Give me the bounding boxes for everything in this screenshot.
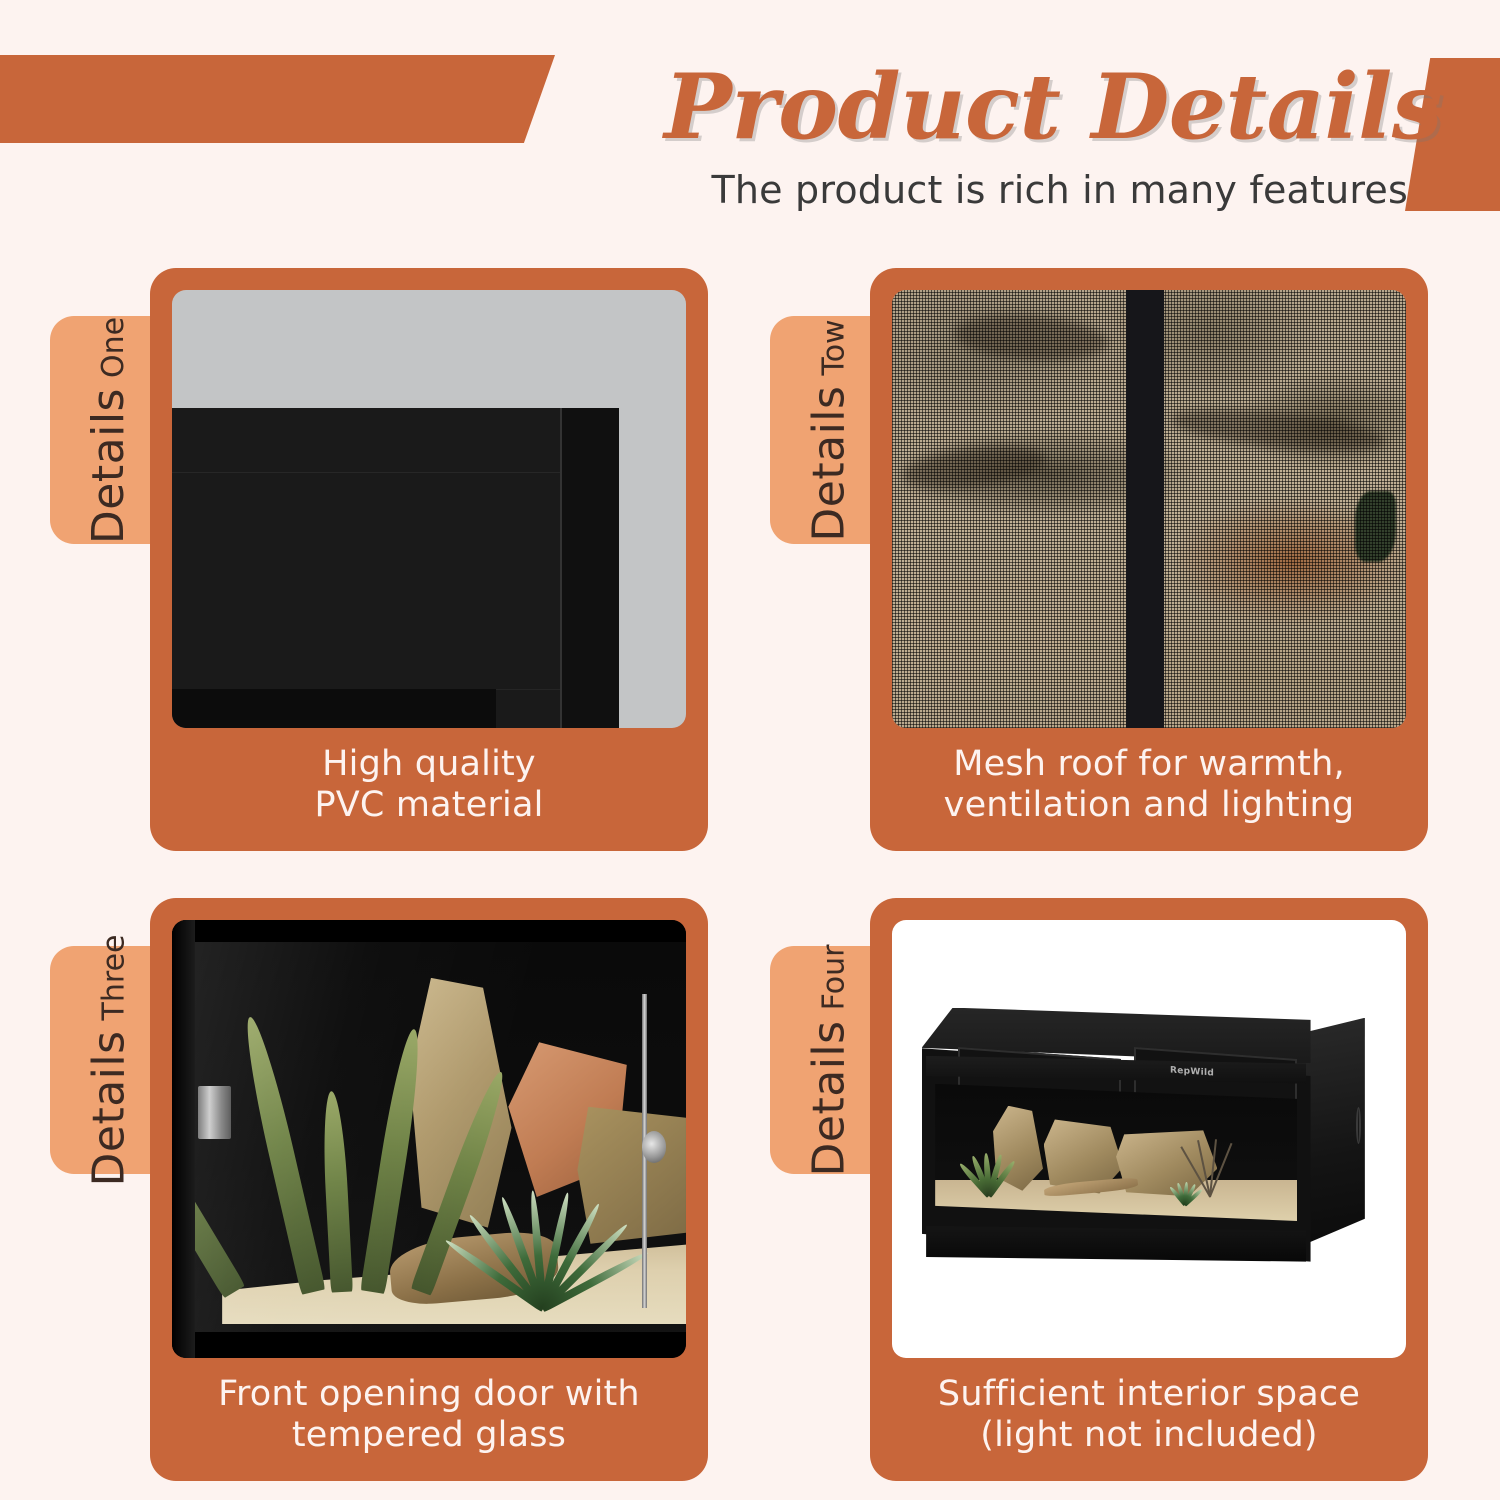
- terrarium-base-plinth: [926, 1226, 1306, 1262]
- details-grid: Details One High quality PVC material De…: [0, 250, 1500, 1500]
- door-frame-bottom: [172, 1332, 686, 1358]
- door-frame-top: [172, 920, 686, 942]
- caption-line-1: Sufficient interior space: [896, 1374, 1402, 1415]
- badge-number: Four: [817, 944, 852, 1010]
- detail-caption-two: Mesh roof for warmth, ventilation and li…: [892, 728, 1406, 851]
- caption-line-1: Front opening door with: [176, 1374, 682, 1415]
- pvc-panel-base: [172, 689, 496, 728]
- terrarium-interior: [193, 938, 686, 1341]
- detail-caption-three: Front opening door with tempered glass: [172, 1358, 686, 1481]
- caption-line-2: tempered glass: [176, 1415, 682, 1456]
- pvc-panel-face: [172, 408, 560, 728]
- door-handle: [198, 1086, 231, 1139]
- mesh-roof-image: [892, 290, 1406, 728]
- page-subtitle: The product is rich in many features: [0, 168, 1408, 212]
- caption-line-2: PVC material: [176, 785, 682, 826]
- detail-card-two: Mesh roof for warmth, ventilation and li…: [870, 268, 1428, 851]
- page-header: Product Details The product is rich in m…: [0, 0, 1500, 235]
- haworthia-succulent: [498, 1179, 587, 1308]
- badge-number: Three: [97, 934, 132, 1020]
- side-vent-icon: [1356, 1107, 1361, 1144]
- badge-number: One: [97, 316, 132, 377]
- badge-label: Details: [804, 1020, 855, 1176]
- caption-line-2: ventilation and lighting: [896, 785, 1402, 826]
- badge-label: Details: [804, 385, 855, 541]
- badge-number: Tow: [817, 319, 852, 375]
- front-door-image: [172, 920, 686, 1358]
- badge-label: Details: [84, 388, 135, 544]
- page-title: Product Details: [0, 62, 1442, 152]
- detail-card-one: High quality PVC material: [150, 268, 708, 851]
- caption-line-2: (light not included): [896, 1415, 1402, 1456]
- agave-plant: [964, 1150, 1011, 1197]
- detail-card-three: Front opening door with tempered glass: [150, 898, 708, 1481]
- badge-label: Details: [84, 1030, 135, 1186]
- door-frame-left: [172, 920, 195, 1358]
- pvc-material-image: [172, 290, 686, 728]
- detail-card-four: RepWild: [870, 898, 1428, 1481]
- pvc-panel-edge: [560, 408, 619, 728]
- full-terrarium-image: RepWild: [892, 920, 1406, 1358]
- mesh-center-divider-bar: [1126, 290, 1165, 728]
- rock-back: [577, 1107, 686, 1244]
- detail-caption-one: High quality PVC material: [172, 728, 686, 851]
- terrarium-product: RepWild: [913, 1008, 1365, 1262]
- agave-leaf: [238, 1015, 325, 1295]
- caption-line-1: Mesh roof for warmth,: [896, 744, 1402, 785]
- agave-leaf: [320, 1090, 353, 1292]
- haworthia-succulent: [1167, 1180, 1203, 1205]
- caption-line-1: High quality: [176, 744, 682, 785]
- terrarium-glass-front: [935, 1084, 1297, 1221]
- detail-caption-four: Sufficient interior space (light not inc…: [892, 1358, 1406, 1481]
